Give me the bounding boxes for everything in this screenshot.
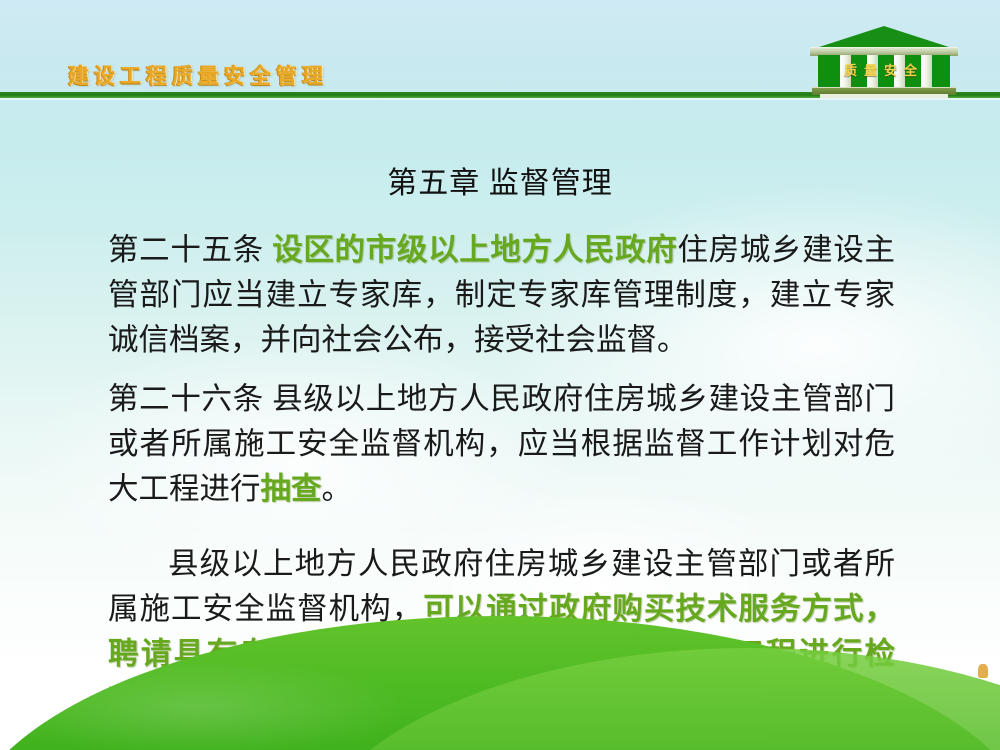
- chapter-title: 第五章 监督管理: [0, 158, 1000, 202]
- logo-label: 质量安全: [818, 60, 950, 79]
- slide-canvas: 建设工程质量安全管理 质量安全 第五章 监督管理 第二十五条 设区的市级以上地方…: [0, 0, 1000, 750]
- slide-header: 建设工程质量安全管理 质量安全: [0, 0, 1000, 100]
- paragraph-article-26: 第二十六条 县级以上地方人民政府住房城乡建设主管部门或者所属施工安全监督机构，应…: [0, 377, 1000, 512]
- highlighted-text-run: 设区的市级以上地方人民政府: [272, 233, 677, 268]
- highlighted-text-run: 抽查: [261, 472, 322, 507]
- body-text-run: 第二十六条 县级以上地方人民政府住房城乡建设主管部门或者所属施工安全监督机构，应…: [108, 382, 895, 506]
- header-title: 建设工程质量安全管理: [68, 60, 328, 90]
- temple-plinth-icon: [820, 94, 948, 98]
- paragraph-article-25: 第二十五条 设区的市级以上地方人民政府住房城乡建设主管部门应当建立专家库，制定专…: [0, 228, 1000, 363]
- flower-speck-decoration: [978, 664, 988, 678]
- temple-pediment-icon: [816, 26, 952, 48]
- body-text-run: 第二十五条: [108, 233, 272, 267]
- body-text-run: 。: [322, 472, 353, 506]
- quality-safety-temple-logo: 质量安全: [810, 26, 958, 96]
